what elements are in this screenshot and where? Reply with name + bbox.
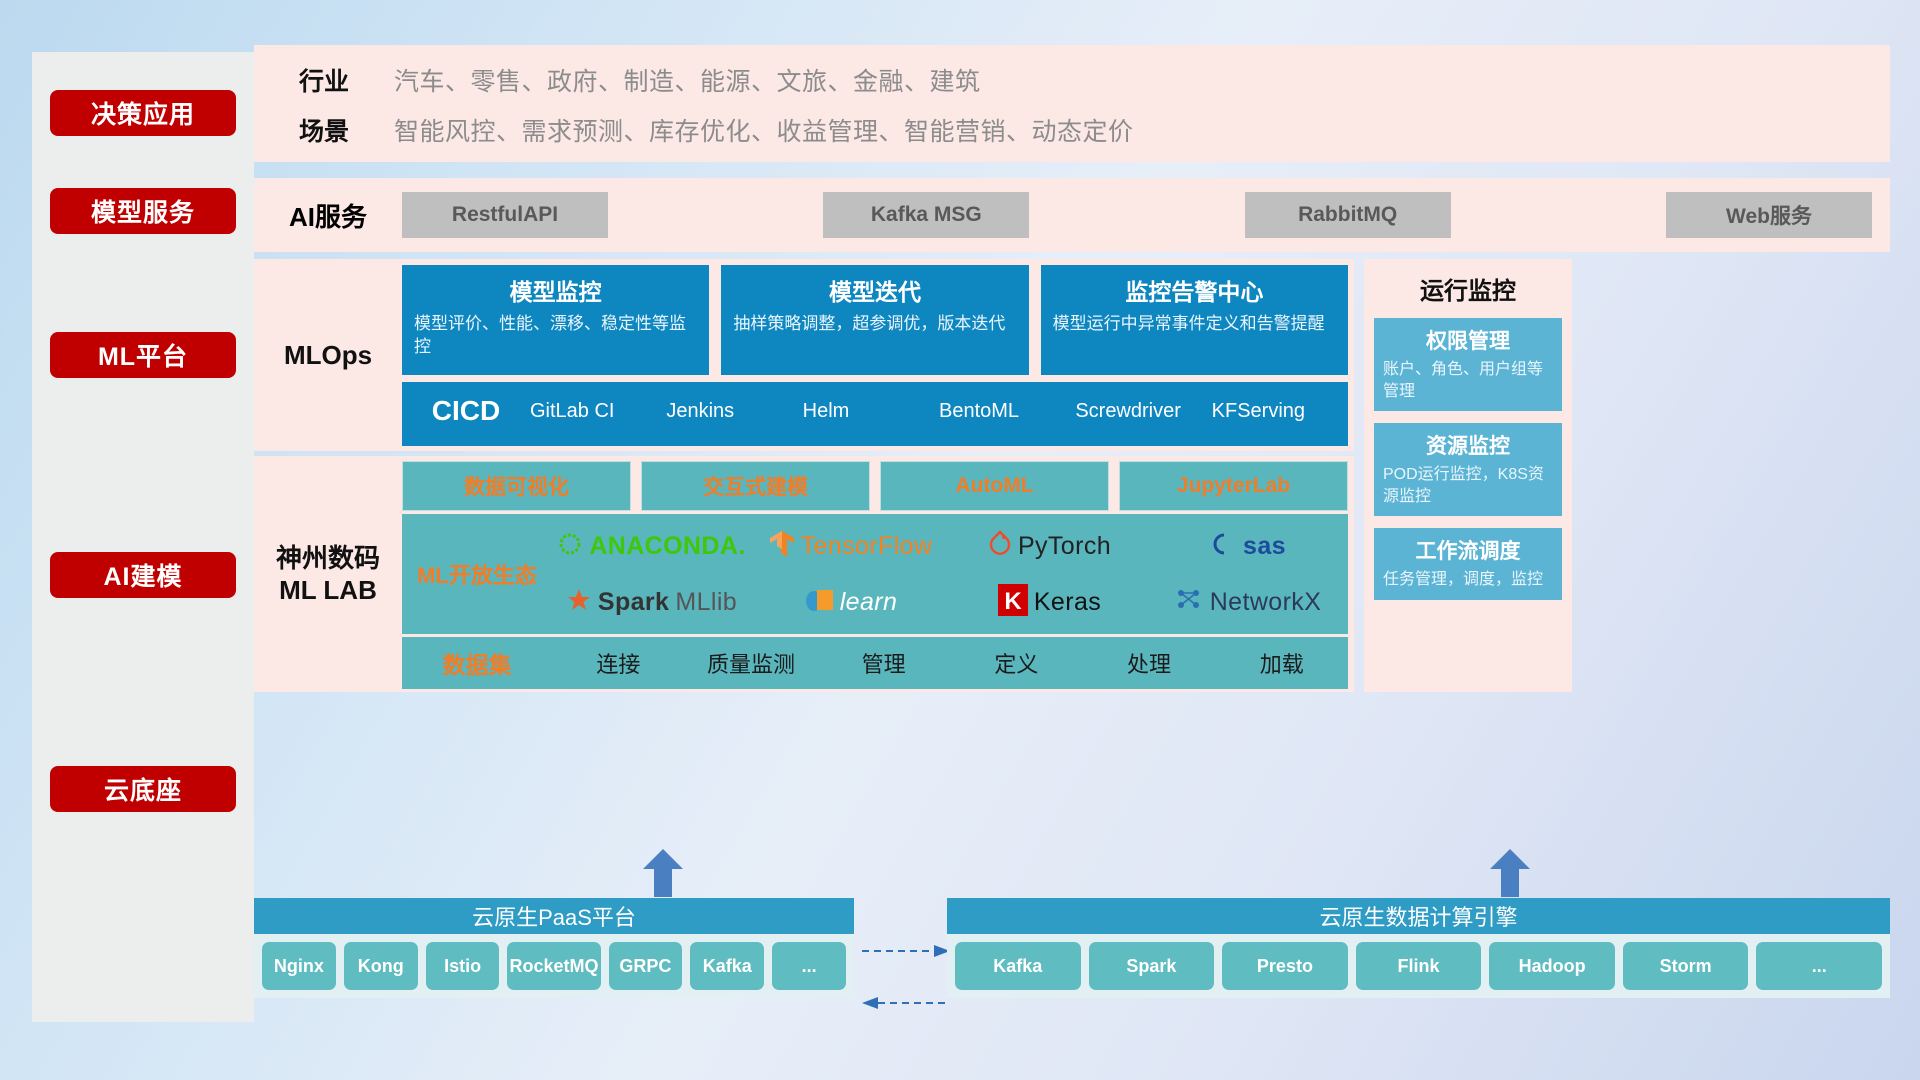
cicd-item-helm[interactable]: Helm	[803, 382, 939, 425]
ai-service-kafka-msg[interactable]: Kafka MSG	[823, 192, 1029, 238]
logo-networkx: NetworkX	[1149, 574, 1348, 630]
data-engine-stack: 云原生数据计算引擎 Kafka Spark Presto Flink Hadoo…	[947, 898, 1890, 998]
cicd-item-screwdriver[interactable]: Screwdriver	[1075, 382, 1211, 425]
dataset-item-define[interactable]: 定义	[950, 647, 1083, 679]
sidebar-item-label: 云底座	[104, 771, 182, 807]
tool-jupyterlab[interactable]: JupyterLab	[1119, 461, 1348, 511]
engine-item-hadoop[interactable]: Hadoop	[1489, 942, 1615, 990]
mlops-card-list: 模型监控 模型评价、性能、漂移、稳定性等监控 模型迭代 抽样策略调整，超参调优，…	[402, 265, 1348, 375]
tensorflow-icon	[769, 529, 795, 564]
dataset-item-quality-monitor[interactable]: 质量监测	[685, 647, 818, 679]
card-title: 模型迭代	[733, 273, 1016, 307]
logo-text: MLlib	[675, 588, 737, 617]
monitor-card-workflow[interactable]: 工作流调度 任务管理，调度，监控	[1374, 528, 1562, 600]
dataset-item-manage[interactable]: 管理	[817, 647, 950, 679]
modeling-tool-row: 数据可视化 交互式建模 AutoML JupyterLab	[402, 461, 1348, 511]
logo-text: PyTorch	[1018, 532, 1111, 561]
card-title: 监控告警中心	[1053, 273, 1336, 307]
ml-ecosystem-row: ML开放生态 ANACONDA. TensorFlow PyTorch	[402, 514, 1348, 634]
sidebar-item-decision-app[interactable]: 决策应用	[50, 90, 236, 136]
card-title: 权限管理	[1383, 325, 1553, 355]
logo-sas: sas	[1149, 518, 1348, 574]
engine-item-storm[interactable]: Storm	[1623, 942, 1749, 990]
mlops-card-alert-center[interactable]: 监控告警中心 模型运行中异常事件定义和告警提醒	[1041, 265, 1348, 375]
ai-service-restfulapi[interactable]: RestfulAPI	[402, 192, 608, 238]
cicd-title: CICD	[402, 382, 530, 427]
paas-item-more[interactable]: ...	[772, 942, 846, 990]
mlops-card-model-monitor[interactable]: 模型监控 模型评价、性能、漂移、稳定性等监控	[402, 265, 709, 375]
sidebar-item-cloud-base[interactable]: 云底座	[50, 766, 236, 812]
spark-icon	[566, 587, 592, 618]
card-desc: 模型评价、性能、漂移、稳定性等监控	[414, 313, 697, 359]
svg-text:K: K	[1004, 588, 1022, 615]
mlops-label: MLOps	[254, 259, 402, 451]
industry-row: 行业 汽车、零售、政府、制造、能源、文旅、金融、建筑	[254, 55, 1890, 105]
paas-item-list: Nginx Kong Istio RocketMQ GRPC Kafka ...	[254, 934, 854, 998]
logo-text: NetworkX	[1210, 588, 1322, 617]
ml-lab-label-line1: 神州数码	[276, 542, 380, 575]
dataset-item-connect[interactable]: 连接	[552, 647, 685, 679]
ml-ecosystem-label: ML开放生态	[402, 558, 552, 590]
arrow-up-engine	[1488, 849, 1532, 897]
scikit-learn-icon	[804, 587, 834, 618]
arrow-dashed-left	[862, 996, 950, 1015]
cicd-row: CICD GitLab CI Jenkins Helm BentoML Scre…	[402, 382, 1348, 446]
paas-item-nginx[interactable]: Nginx	[262, 942, 336, 990]
scenario-values: 智能风控、需求预测、库存优化、收益管理、智能营销、动态定价	[394, 112, 1134, 148]
logo-text: TensorFlow	[801, 532, 933, 561]
ml-lab-label-line2: ML LAB	[276, 574, 380, 607]
diagram-canvas: 决策应用 模型服务 ML平台 AI建模 云底座 行业 汽车、零售、政府、制造、能…	[0, 0, 1920, 1080]
ai-service-band: AI服务 RestfulAPI Kafka MSG RabbitMQ Web服务	[254, 178, 1890, 252]
engine-item-kafka[interactable]: Kafka	[955, 942, 1081, 990]
ai-service-label: AI服务	[254, 197, 402, 234]
sidebar-item-label: AI建模	[103, 557, 182, 593]
data-engine-title: 云原生数据计算引擎	[947, 898, 1890, 934]
sidebar-item-model-service[interactable]: 模型服务	[50, 188, 236, 234]
logo-text: sas	[1243, 532, 1286, 561]
industry-values: 汽车、零售、政府、制造、能源、文旅、金融、建筑	[394, 62, 981, 98]
engine-item-spark[interactable]: Spark	[1089, 942, 1215, 990]
tool-interactive-modeling[interactable]: 交互式建模	[641, 461, 870, 511]
logo-keras: K Keras	[950, 574, 1149, 630]
layer-rail: 决策应用 模型服务 ML平台 AI建模 云底座	[32, 52, 254, 1022]
ml-lab-label: 神州数码 ML LAB	[254, 456, 402, 692]
card-title: 工作流调度	[1383, 535, 1553, 565]
dataset-item-load[interactable]: 加载	[1215, 647, 1348, 679]
card-title: 资源监控	[1383, 430, 1553, 460]
logo-text: ANACONDA.	[589, 532, 745, 561]
mlops-card-model-iteration[interactable]: 模型迭代 抽样策略调整，超参调优，版本迭代	[721, 265, 1028, 375]
engine-item-flink[interactable]: Flink	[1356, 942, 1482, 990]
cicd-item-bentoml[interactable]: BentoML	[939, 382, 1075, 425]
card-desc: 抽样策略调整，超参调优，版本迭代	[733, 313, 1016, 336]
card-desc: 任务管理，调度，监控	[1383, 569, 1553, 591]
paas-stack: 云原生PaaS平台 Nginx Kong Istio RocketMQ GRPC…	[254, 898, 854, 998]
cicd-item-kfserving[interactable]: KFServing	[1212, 382, 1348, 425]
tool-automl[interactable]: AutoML	[880, 461, 1109, 511]
pytorch-icon	[988, 530, 1012, 563]
arrow-up-paas	[641, 849, 685, 897]
arrow-dashed-right	[862, 944, 950, 963]
industry-label: 行业	[254, 62, 394, 98]
sas-icon	[1211, 531, 1237, 562]
paas-item-grpc[interactable]: GRPC	[609, 942, 683, 990]
scenario-row: 场景 智能风控、需求预测、库存优化、收益管理、智能营销、动态定价	[254, 105, 1890, 155]
sidebar-item-label: ML平台	[98, 337, 188, 373]
ai-service-web[interactable]: Web服务	[1666, 192, 1872, 238]
sidebar-item-label: 模型服务	[91, 193, 195, 229]
logo-scikit-learn: learn	[751, 574, 950, 630]
anaconda-icon	[557, 531, 583, 562]
keras-icon: K	[998, 584, 1028, 621]
card-desc: 模型运行中异常事件定义和告警提醒	[1053, 313, 1336, 336]
cicd-item-gitlab-ci[interactable]: GitLab CI	[530, 382, 666, 425]
engine-item-more[interactable]: ...	[1756, 942, 1882, 990]
dataset-item-process[interactable]: 处理	[1083, 647, 1216, 679]
tool-data-visualization[interactable]: 数据可视化	[402, 461, 631, 511]
cicd-item-jenkins[interactable]: Jenkins	[666, 382, 802, 425]
logo-spark-mllib: Spark MLlib	[552, 574, 751, 630]
card-title: 模型监控	[414, 273, 697, 307]
logo-text-spark: Spark	[598, 588, 669, 617]
dataset-row: 数据集 连接 质量监测 管理 定义 处理 加载	[402, 637, 1348, 689]
monitor-card-permission[interactable]: 权限管理 账户、角色、用户组等管理	[1374, 318, 1562, 411]
logo-text: learn	[840, 588, 898, 617]
logo-anaconda: ANACONDA.	[552, 518, 751, 574]
logo-pytorch: PyTorch	[950, 518, 1149, 574]
sidebar-item-label: 决策应用	[91, 95, 195, 131]
networkx-icon	[1176, 587, 1204, 618]
card-desc: POD运行监控，K8S资源监控	[1383, 464, 1553, 507]
paas-item-kafka[interactable]: Kafka	[690, 942, 764, 990]
ai-service-rabbitmq[interactable]: RabbitMQ	[1245, 192, 1451, 238]
data-engine-item-list: Kafka Spark Presto Flink Hadoop Storm ..…	[947, 934, 1890, 998]
industry-scenario-band: 行业 汽车、零售、政府、制造、能源、文旅、金融、建筑 场景 智能风控、需求预测、…	[254, 45, 1890, 162]
monitor-card-resource[interactable]: 资源监控 POD运行监控，K8S资源监控	[1374, 423, 1562, 516]
paas-item-istio[interactable]: Istio	[426, 942, 500, 990]
scenario-label: 场景	[254, 112, 394, 148]
paas-item-kong[interactable]: Kong	[344, 942, 418, 990]
card-desc: 账户、角色、用户组等管理	[1383, 359, 1553, 402]
logo-text: Keras	[1034, 588, 1101, 617]
sidebar-item-ai-modeling[interactable]: AI建模	[50, 552, 236, 598]
runtime-monitor-panel: 运行监控 权限管理 账户、角色、用户组等管理 资源监控 POD运行监控，K8S资…	[1364, 259, 1572, 692]
dataset-label: 数据集	[402, 646, 552, 680]
logo-tensorflow: TensorFlow	[751, 518, 950, 574]
paas-title: 云原生PaaS平台	[254, 898, 854, 934]
sidebar-item-ml-platform[interactable]: ML平台	[50, 332, 236, 378]
engine-item-presto[interactable]: Presto	[1222, 942, 1348, 990]
runtime-monitor-title: 运行监控	[1364, 259, 1572, 306]
paas-item-rocketmq[interactable]: RocketMQ	[507, 942, 600, 990]
